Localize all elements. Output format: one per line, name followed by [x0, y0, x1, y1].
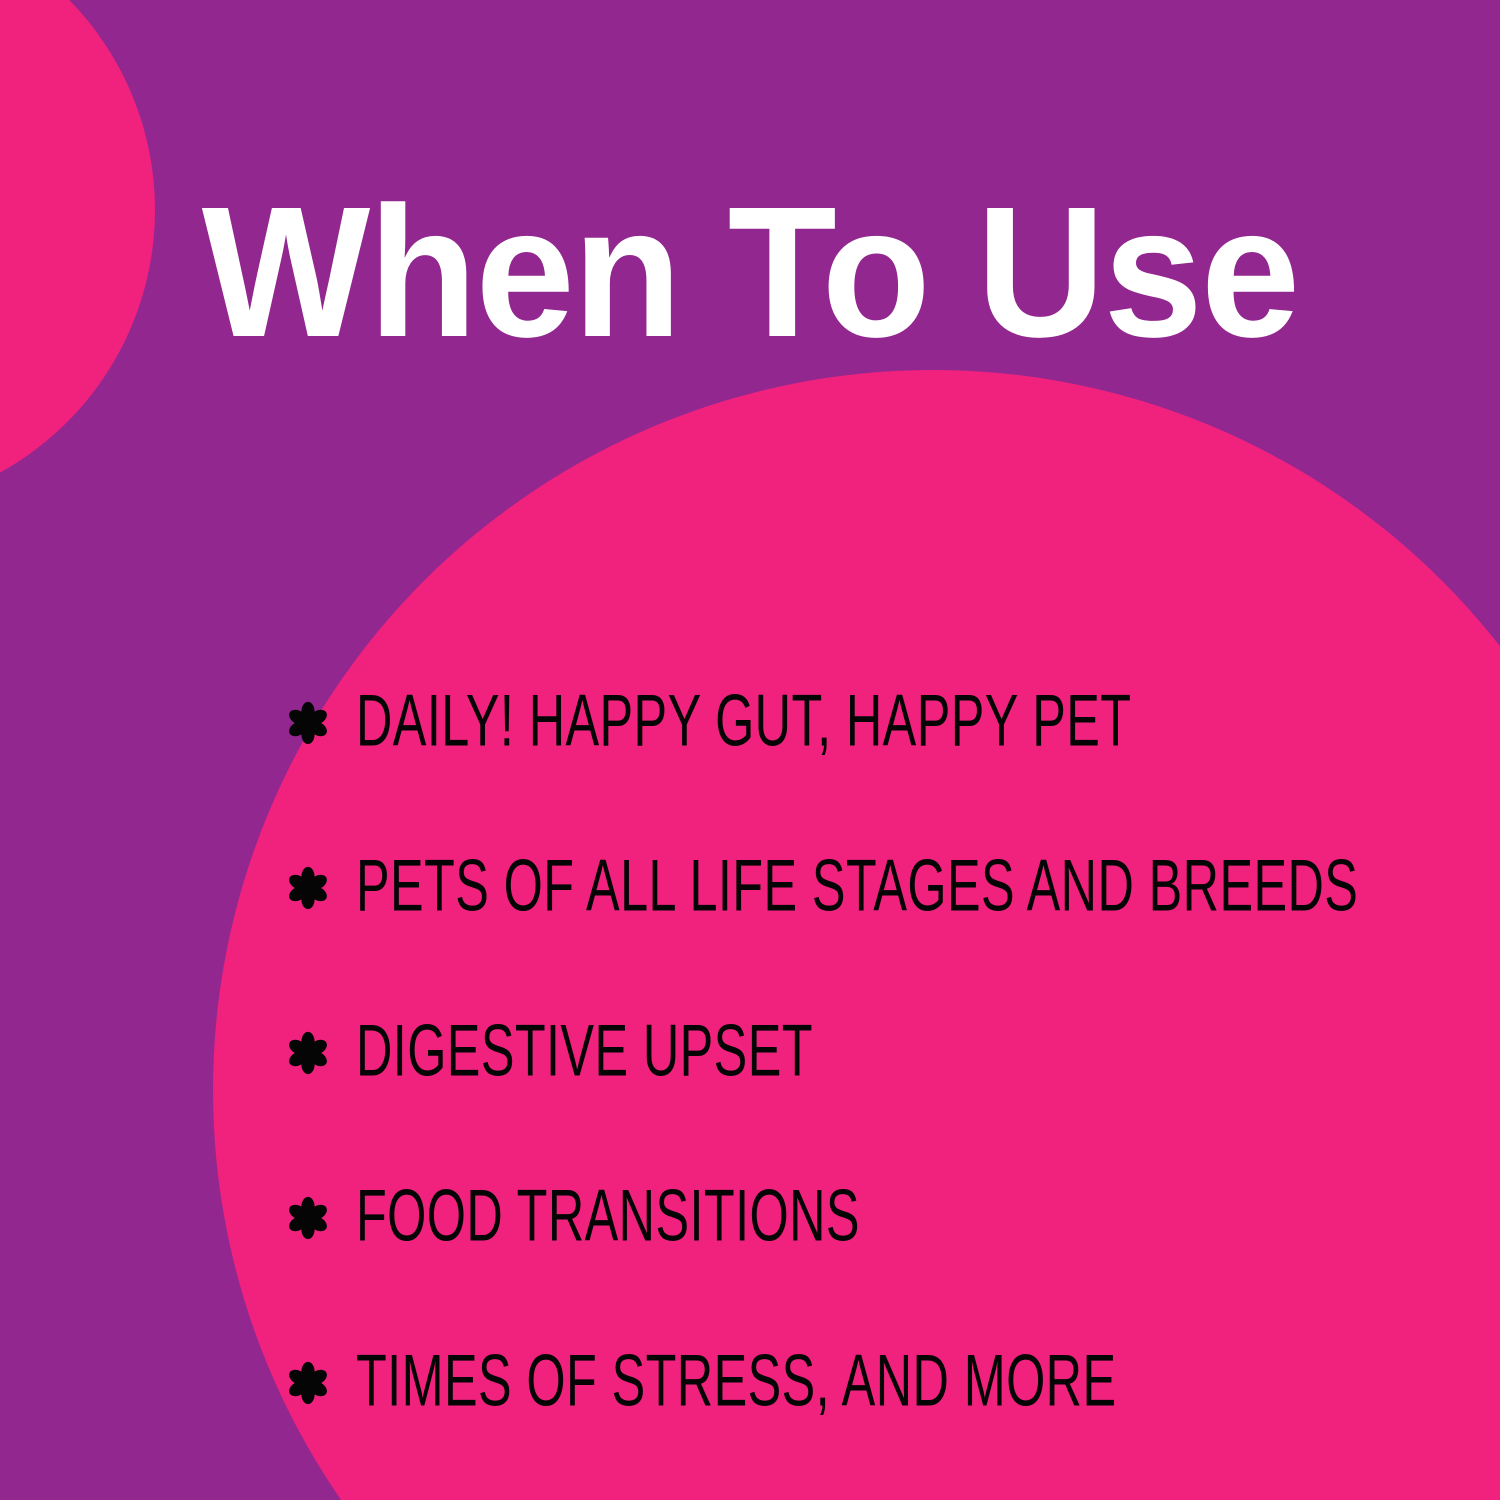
list-item: DAILY! HAPPY GUT, HAPPY PET — [286, 676, 1466, 766]
list-item-label: TIMES OF STRESS, AND MORE — [356, 1344, 1244, 1417]
page-title: When To Use — [30, 173, 1470, 374]
list-item: DIGESTIVE UPSET — [286, 1006, 1466, 1096]
flower-asterisk-icon — [286, 1195, 330, 1241]
flower-asterisk-icon — [286, 865, 330, 911]
flower-asterisk-icon — [286, 1030, 330, 1076]
poster-canvas: When To Use DAILY! HAPPY GUT, HAPPY PET — [0, 0, 1500, 1500]
list-item-label: FOOD TRANSITIONS — [356, 1179, 1244, 1252]
list-item-label: DAILY! HAPPY GUT, HAPPY PET — [356, 684, 1244, 757]
flower-asterisk-icon — [286, 700, 330, 746]
list-item: FOOD TRANSITIONS — [286, 1171, 1466, 1261]
list-item-label: DIGESTIVE UPSET — [356, 1014, 1244, 1087]
usage-list: DAILY! HAPPY GUT, HAPPY PET PETS OF AL — [286, 676, 1466, 1426]
list-item: PETS OF ALL LIFE STAGES AND BREEDS — [286, 841, 1466, 931]
list-item-label: PETS OF ALL LIFE STAGES AND BREEDS — [356, 849, 1358, 922]
flower-asterisk-icon — [286, 1360, 330, 1406]
list-item: TIMES OF STRESS, AND MORE — [286, 1336, 1466, 1426]
